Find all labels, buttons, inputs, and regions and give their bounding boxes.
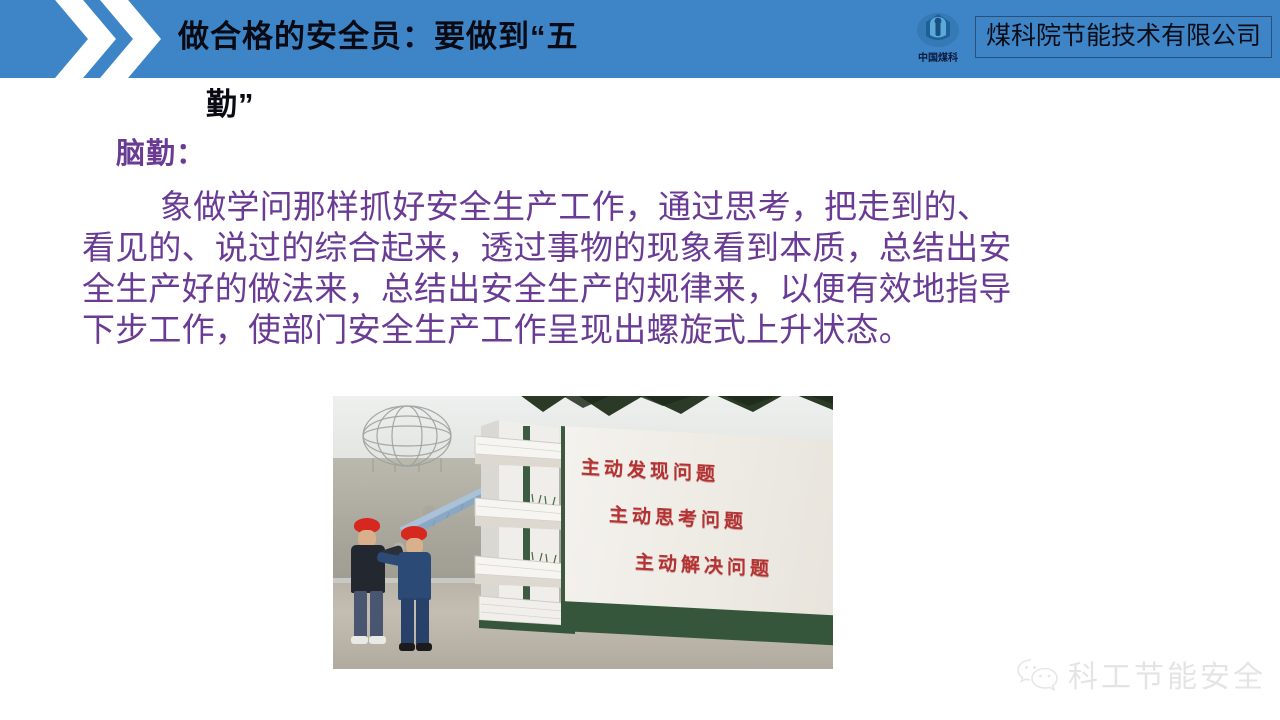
wall-slogan-3: 主动解决问题 — [635, 547, 773, 581]
section-heading: 脑勤： — [116, 130, 206, 172]
wall-slogan-2: 主动思考问题 — [609, 500, 747, 534]
photo-wall-slogans: 主动发现问题 主动思考问题 主动解决问题 — [573, 444, 833, 608]
paragraph-line-2: 看见的、说过的综合起来，透过事物的现象看到本质，总结出安 — [82, 227, 1192, 268]
photo-worker-left — [349, 518, 391, 648]
china-coal-emblem-icon: 中国煤科 — [907, 6, 969, 68]
company-name: 煤科院节能技术有限公司 — [975, 16, 1272, 58]
watermark-text: 科工节能安全 — [1068, 652, 1266, 696]
china-coal-logo-text: 中国煤科 — [918, 49, 958, 64]
chevron-right-icon-2 — [93, 0, 161, 84]
wechat-watermark: 科工节能安全 — [1016, 652, 1266, 696]
wall-slogan-1: 主动发现问题 — [581, 452, 719, 486]
paragraph-line-4: 下步工作，使部门安全生产工作呈现出螺旋式上升状态。 — [82, 309, 1192, 350]
page-title-overflow: 勤” — [206, 85, 255, 125]
body-paragraph: 象做学问那样抓好安全生产工作，通过思考，把走到的、 看见的、说过的综合起来，透过… — [82, 186, 1192, 350]
slide-header-bar: 做合格的安全员：要做到“五 中国煤科 煤科院节能技术有限公司 — [0, 0, 1280, 78]
photo-spherical-tank — [351, 402, 463, 472]
photo-worker-right — [395, 526, 437, 654]
safety-slogan-wall-photo: 主动发现问题 主动思考问题 主动解决问题 — [333, 396, 833, 669]
paragraph-line-3: 全生产好的做法来，总结出安全生产的规律来，以便有效地指导 — [82, 268, 1192, 309]
paragraph-line-1: 象做学问那样抓好安全生产工作，通过思考，把走到的、 — [82, 186, 1192, 227]
wechat-icon — [1016, 657, 1060, 691]
company-branding: 中国煤科 煤科院节能技术有限公司 — [907, 6, 1272, 68]
page-title: 做合格的安全员：要做到“五 — [178, 16, 738, 58]
